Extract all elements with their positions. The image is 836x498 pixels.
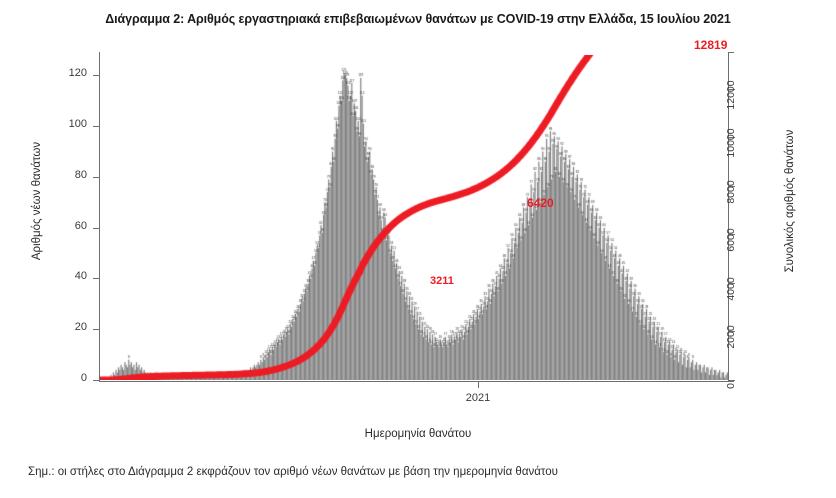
cumulative-end-label: 12819 [694,38,727,52]
y-axis-left-tick [93,278,99,279]
y-axis-right-tick [729,380,735,381]
plot-area [100,55,728,380]
x-axis-spine [99,381,729,382]
footnote: Σημ.: οι στήλες στο Διάγραμμα 2 εκφράζου… [28,466,558,478]
x-axis-title: Ημερομηνία θανάτου [0,428,836,440]
y-axis-left-tick [93,228,99,229]
y-axis-right-tick-label: 0 [725,383,737,389]
right-axis-cap-top [729,52,734,53]
right-axis-cap-bottom [729,381,734,382]
y-axis-left-tick-label: 20 [27,321,87,333]
covid-deaths-figure: Διάγραμμα 2: Αριθμός εργαστηριακά επιβεβ… [0,0,836,498]
chart-canvas [100,55,728,380]
cumulative-mid-label-2: 6420 [527,196,554,210]
y-axis-right-title: Συνολικός αριθμός θανάτων [784,101,796,301]
y-axis-left-tick [93,126,99,127]
cumulative-mid-label-1: 3211 [430,275,454,287]
y-axis-left-tick-label: 0 [27,372,87,384]
y-axis-left-tick [93,75,99,76]
x-axis-tick [478,382,479,388]
page-title: Διάγραμμα 2: Αριθμός εργαστηριακά επιβεβ… [0,12,836,26]
y-axis-left-tick [93,177,99,178]
y-axis-left-tick [93,329,99,330]
y-axis-left-tick-label: 120 [27,67,87,79]
y-axis-left-title: Αριθμός νέων θανάτων [31,101,43,301]
y-axis-left-tick [93,380,99,381]
x-axis-tick-label: 2021 [466,392,490,404]
